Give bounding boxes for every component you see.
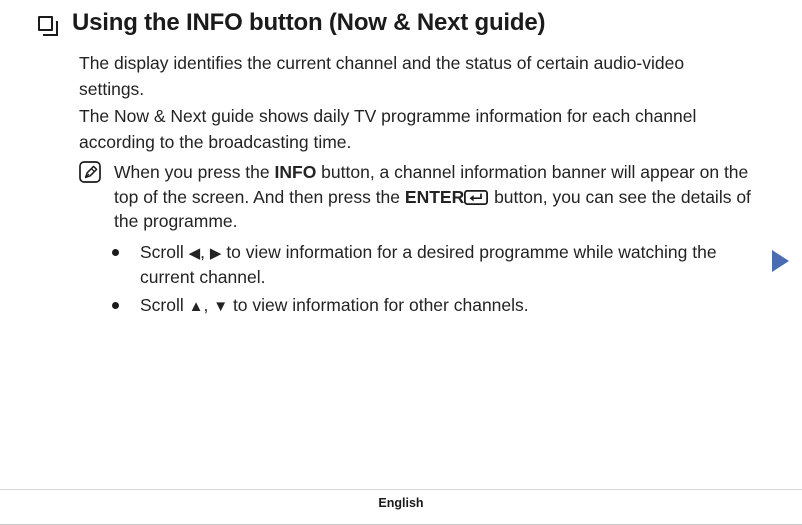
list-item-text: Scroll ▲, ▼ to view information for othe…: [140, 293, 760, 318]
page-heading: Using the INFO button (Now & Next guide): [38, 8, 762, 38]
list-item: Scroll ◀, ▶ to view information for a de…: [112, 240, 760, 290]
document-page: Using the INFO button (Now & Next guide)…: [0, 0, 802, 525]
info-button-label: INFO: [275, 162, 317, 182]
enter-key-icon: [464, 187, 488, 202]
bullet-2-suffix: to view information for other channels.: [228, 295, 529, 315]
body-paragraph-1: The display identifies the current chann…: [79, 50, 739, 102]
note-pencil-icon: [79, 161, 101, 183]
list-item: Scroll ▲, ▼ to view information for othe…: [112, 293, 760, 318]
next-page-arrow-icon[interactable]: [772, 250, 789, 272]
bullet-list: Scroll ◀, ▶ to view information for a de…: [112, 240, 760, 321]
list-item-text: Scroll ◀, ▶ to view information for a de…: [140, 240, 760, 290]
note-block: When you press the INFO button, a channe…: [79, 160, 754, 234]
bullet-2-prefix: Scroll: [140, 295, 189, 315]
round-bullet-icon: [112, 249, 119, 256]
page-footer: English: [0, 489, 802, 525]
body-paragraph-2: The Now & Next guide shows daily TV prog…: [79, 103, 739, 155]
bullet-1-separator: ,: [200, 242, 210, 262]
note-text-part-1: When you press the: [114, 162, 275, 182]
left-arrow-icon: ◀: [189, 245, 201, 262]
round-bullet-icon: [112, 302, 119, 309]
right-arrow-icon: ▶: [210, 245, 222, 262]
footer-language-label: English: [0, 496, 802, 510]
square-bullet-icon: [38, 16, 53, 31]
up-arrow-icon: ▲: [189, 298, 204, 315]
down-arrow-icon: ▼: [213, 298, 228, 315]
bullet-1-suffix: to view information for a desired progra…: [140, 242, 717, 287]
page-title: Using the INFO button (Now & Next guide): [72, 8, 545, 38]
enter-button-label: ENTER: [405, 187, 464, 207]
note-text: When you press the INFO button, a channe…: [114, 160, 754, 234]
bullet-2-separator: ,: [203, 295, 213, 315]
bullet-1-prefix: Scroll: [140, 242, 189, 262]
